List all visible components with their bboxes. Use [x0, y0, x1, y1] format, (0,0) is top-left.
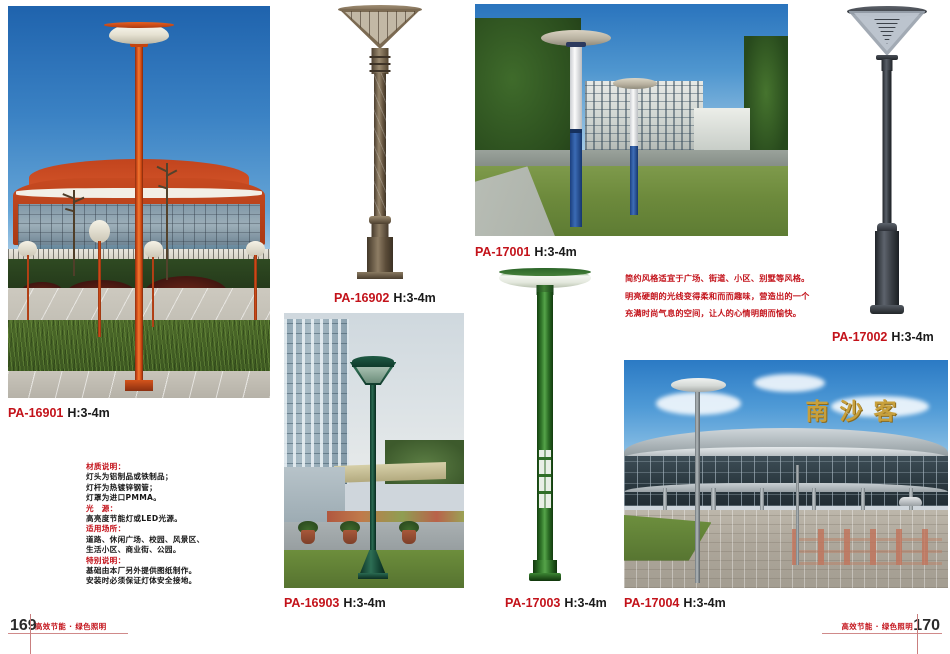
caption-pa-16901: PA-16901H:3-4m	[8, 406, 110, 420]
light-source-heading: 光 源：	[86, 504, 236, 514]
lamp-pole	[370, 376, 376, 563]
product-size: H:3-4m	[393, 291, 435, 305]
background-lamp-1	[18, 241, 36, 319]
caption-pa-17001: PA-17001H:3-4m	[475, 245, 577, 259]
base-collar	[369, 216, 391, 224]
product-photo-pa-16903	[284, 313, 464, 588]
foreground-lamp-pole	[570, 46, 581, 227]
product-photo-pa-17001	[475, 4, 788, 236]
tower-windows	[284, 319, 349, 484]
light-source-line-1: 高亮度节能灯或LED光源。	[86, 514, 236, 524]
product-photo-pa-16901	[8, 6, 270, 398]
product-size: H:3-4m	[67, 406, 109, 420]
catalog-spread: PA-16901H:3-4m PA-16902H:3-4m	[0, 0, 950, 654]
lamp-pole	[27, 255, 29, 319]
application-heading: 适用场所：	[86, 524, 236, 534]
application-line-1: 道路、休闲广场、校园、风景区、	[86, 535, 236, 545]
product-code: PA-17002	[832, 330, 887, 344]
page-number-left: 169	[10, 617, 37, 635]
base-body	[367, 237, 393, 275]
product-size: H:3-4m	[343, 596, 385, 610]
application-line-2: 生活小区、商业街、公园。	[86, 545, 236, 555]
secondary-building	[694, 108, 750, 152]
pole-lower-blue	[630, 146, 638, 215]
bare-tree-right	[149, 163, 186, 281]
special-note-heading: 特别说明：	[86, 556, 236, 566]
neck-rings	[370, 52, 391, 72]
paving-color-pattern	[792, 529, 941, 565]
bare-tree-left	[55, 190, 92, 276]
product-code: PA-17001	[475, 245, 530, 259]
footer-divider-left	[30, 614, 31, 654]
style-description-block: 简约风格适宜于广场、街道、小区、别墅等风格。 明亮硬朗的光线变得柔和而而趣味，营…	[625, 272, 830, 325]
pole-twist-pattern	[374, 73, 386, 219]
base-body	[875, 231, 899, 307]
special-note-line-1: 基础由本厂另外提供图纸制作。	[86, 566, 236, 576]
product-code: PA-16902	[334, 291, 389, 305]
lamp-dome	[89, 220, 110, 244]
lamp-base-plate	[358, 573, 389, 579]
building-windows	[585, 81, 704, 151]
base-plate	[870, 305, 904, 314]
product-code: PA-17003	[505, 596, 560, 610]
product-size: H:3-4m	[534, 245, 576, 259]
lamp-base-plate	[529, 573, 561, 581]
product-shot-pa-16902	[322, 2, 438, 280]
background-lamp-pole	[630, 88, 638, 216]
specification-text-block: 材质说明： 灯头为铝制品或铁制品； 灯杆为热镀锌钢管； 灯罩为进口PMMA。 光…	[86, 462, 236, 587]
caption-pa-16903: PA-16903H:3-4m	[284, 596, 386, 610]
parked-car	[899, 497, 922, 506]
caption-pa-17003: PA-17003H:3-4m	[505, 596, 607, 610]
style-description-line-1: 简约风格适宜于广场、街道、小区、别墅等风格。	[625, 272, 830, 285]
caption-pa-17004: PA-17004H:3-4m	[624, 596, 726, 610]
footer-right: 170 高效节能 · 绿色照明	[750, 606, 950, 654]
pole-lower-blue	[570, 133, 581, 227]
lamp-pole	[98, 241, 101, 337]
glass-tower	[284, 319, 349, 484]
background-lamp-2	[89, 220, 110, 338]
material-line-1: 灯头为铝制品或铁制品；	[86, 472, 236, 482]
material-heading: 材质说明：	[86, 462, 236, 472]
product-photo-pa-17004: 南沙客	[624, 360, 948, 588]
pole-upper-white	[570, 46, 581, 133]
style-description-line-3: 充满时尚气息的空间，让人的心情明朗而愉快。	[625, 307, 830, 320]
caption-pa-17002: PA-17002H:3-4m	[832, 330, 934, 344]
product-code: PA-16901	[8, 406, 63, 420]
cloud-2	[754, 374, 825, 392]
style-description-line-2: 明亮硬朗的光线变得柔和而而趣味，营造出的一个	[625, 290, 830, 303]
caption-pa-16902: PA-16902H:3-4m	[334, 291, 436, 305]
main-lamp-dome-rim	[104, 22, 175, 28]
planter-pot-2	[343, 530, 357, 544]
planter-pot-3	[402, 530, 416, 544]
lamp-shade-cap	[352, 356, 393, 367]
lamp-dome	[671, 378, 726, 392]
lamp-pole	[537, 292, 553, 563]
main-lamp-pole	[135, 41, 143, 386]
main-lamp-base	[125, 380, 154, 390]
product-code: PA-16903	[284, 596, 339, 610]
base-plate	[357, 272, 403, 279]
material-line-3: 灯罩为进口PMMA。	[86, 493, 236, 503]
footer-divider-right	[917, 614, 918, 654]
planter-pot-1	[301, 530, 315, 544]
lamp-dome-rim	[499, 268, 591, 276]
product-code: PA-17004	[624, 596, 679, 610]
lamp-pole	[254, 255, 256, 319]
base-mid	[372, 224, 389, 238]
office-building	[585, 81, 704, 151]
product-size: H:3-4m	[891, 330, 933, 344]
product-size: H:3-4m	[564, 596, 606, 610]
background-lamp-disc	[613, 78, 657, 89]
background-lamp-pole	[796, 465, 799, 565]
terminal-name-sign: 南沙客	[805, 392, 907, 426]
product-shot-pa-17002	[828, 2, 946, 318]
material-line-2: 灯杆为热镀锌钢管；	[86, 483, 236, 493]
background-lamp-4	[246, 241, 264, 319]
window-grid-divider	[539, 450, 551, 508]
entrance-canopy	[624, 483, 948, 492]
lamp-pole	[695, 387, 700, 583]
foreground-lamp-collar	[566, 42, 586, 47]
footer-slogan-left: 高效节能 · 绿色照明	[35, 621, 106, 632]
pole-upper-white	[630, 88, 638, 147]
footer-slogan-right: 高效节能 · 绿色照明	[842, 621, 913, 632]
lamp-pole	[883, 70, 892, 225]
footer-left: 169 高效节能 · 绿色照明	[0, 606, 200, 654]
tree-cluster-right	[744, 36, 788, 161]
product-size: H:3-4m	[683, 596, 725, 610]
product-shot-pa-17003	[495, 258, 595, 590]
special-note-line-2: 安装时必须保证灯体安全接地。	[86, 576, 236, 586]
